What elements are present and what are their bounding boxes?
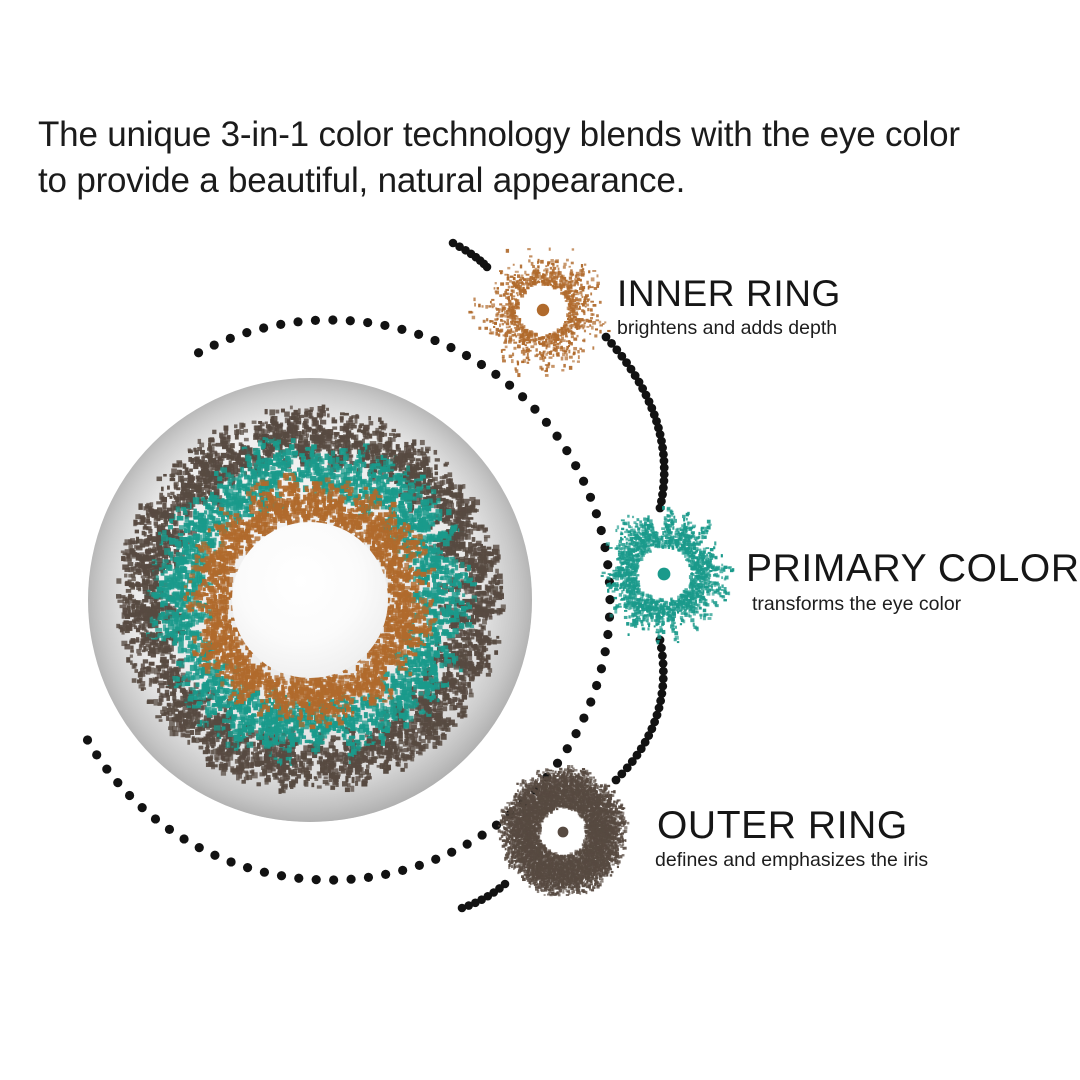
inner-ring-burst-icon (468, 248, 610, 378)
page-headline: The unique 3-in-1 color technology blend… (38, 112, 1038, 203)
lens-pupil (232, 522, 388, 678)
iris-stipple-pattern (116, 405, 506, 794)
headline-line-1: The unique 3-in-1 color technology blend… (38, 112, 1038, 158)
infographic-canvas: The unique 3-in-1 color technology blend… (0, 0, 1080, 1080)
headline-line-2: to provide a beautiful, natural appearan… (38, 158, 1038, 204)
lens-disc (88, 378, 532, 822)
callout-outer-ring-title: OUTER RING (657, 806, 928, 845)
callout-outer-ring-subtitle: defines and emphasizes the iris (655, 851, 928, 871)
outer-ring-burst-icon (498, 765, 630, 896)
callout-primary-color-subtitle: transforms the eye color (752, 595, 1080, 615)
primary-color-burst-icon (601, 506, 735, 644)
callout-primary-color: PRIMARY COLOR transforms the eye color (746, 549, 1080, 615)
callout-inner-ring-title: INNER RING (617, 275, 841, 312)
callout-primary-color-title: PRIMARY COLOR (746, 549, 1080, 588)
callout-inner-ring-subtitle: brightens and adds depth (617, 319, 841, 339)
dotted-connector-paths (83, 239, 669, 913)
callout-outer-ring: OUTER RING defines and emphasizes the ir… (657, 806, 928, 871)
callout-inner-ring: INNER RING brightens and adds depth (617, 275, 841, 339)
